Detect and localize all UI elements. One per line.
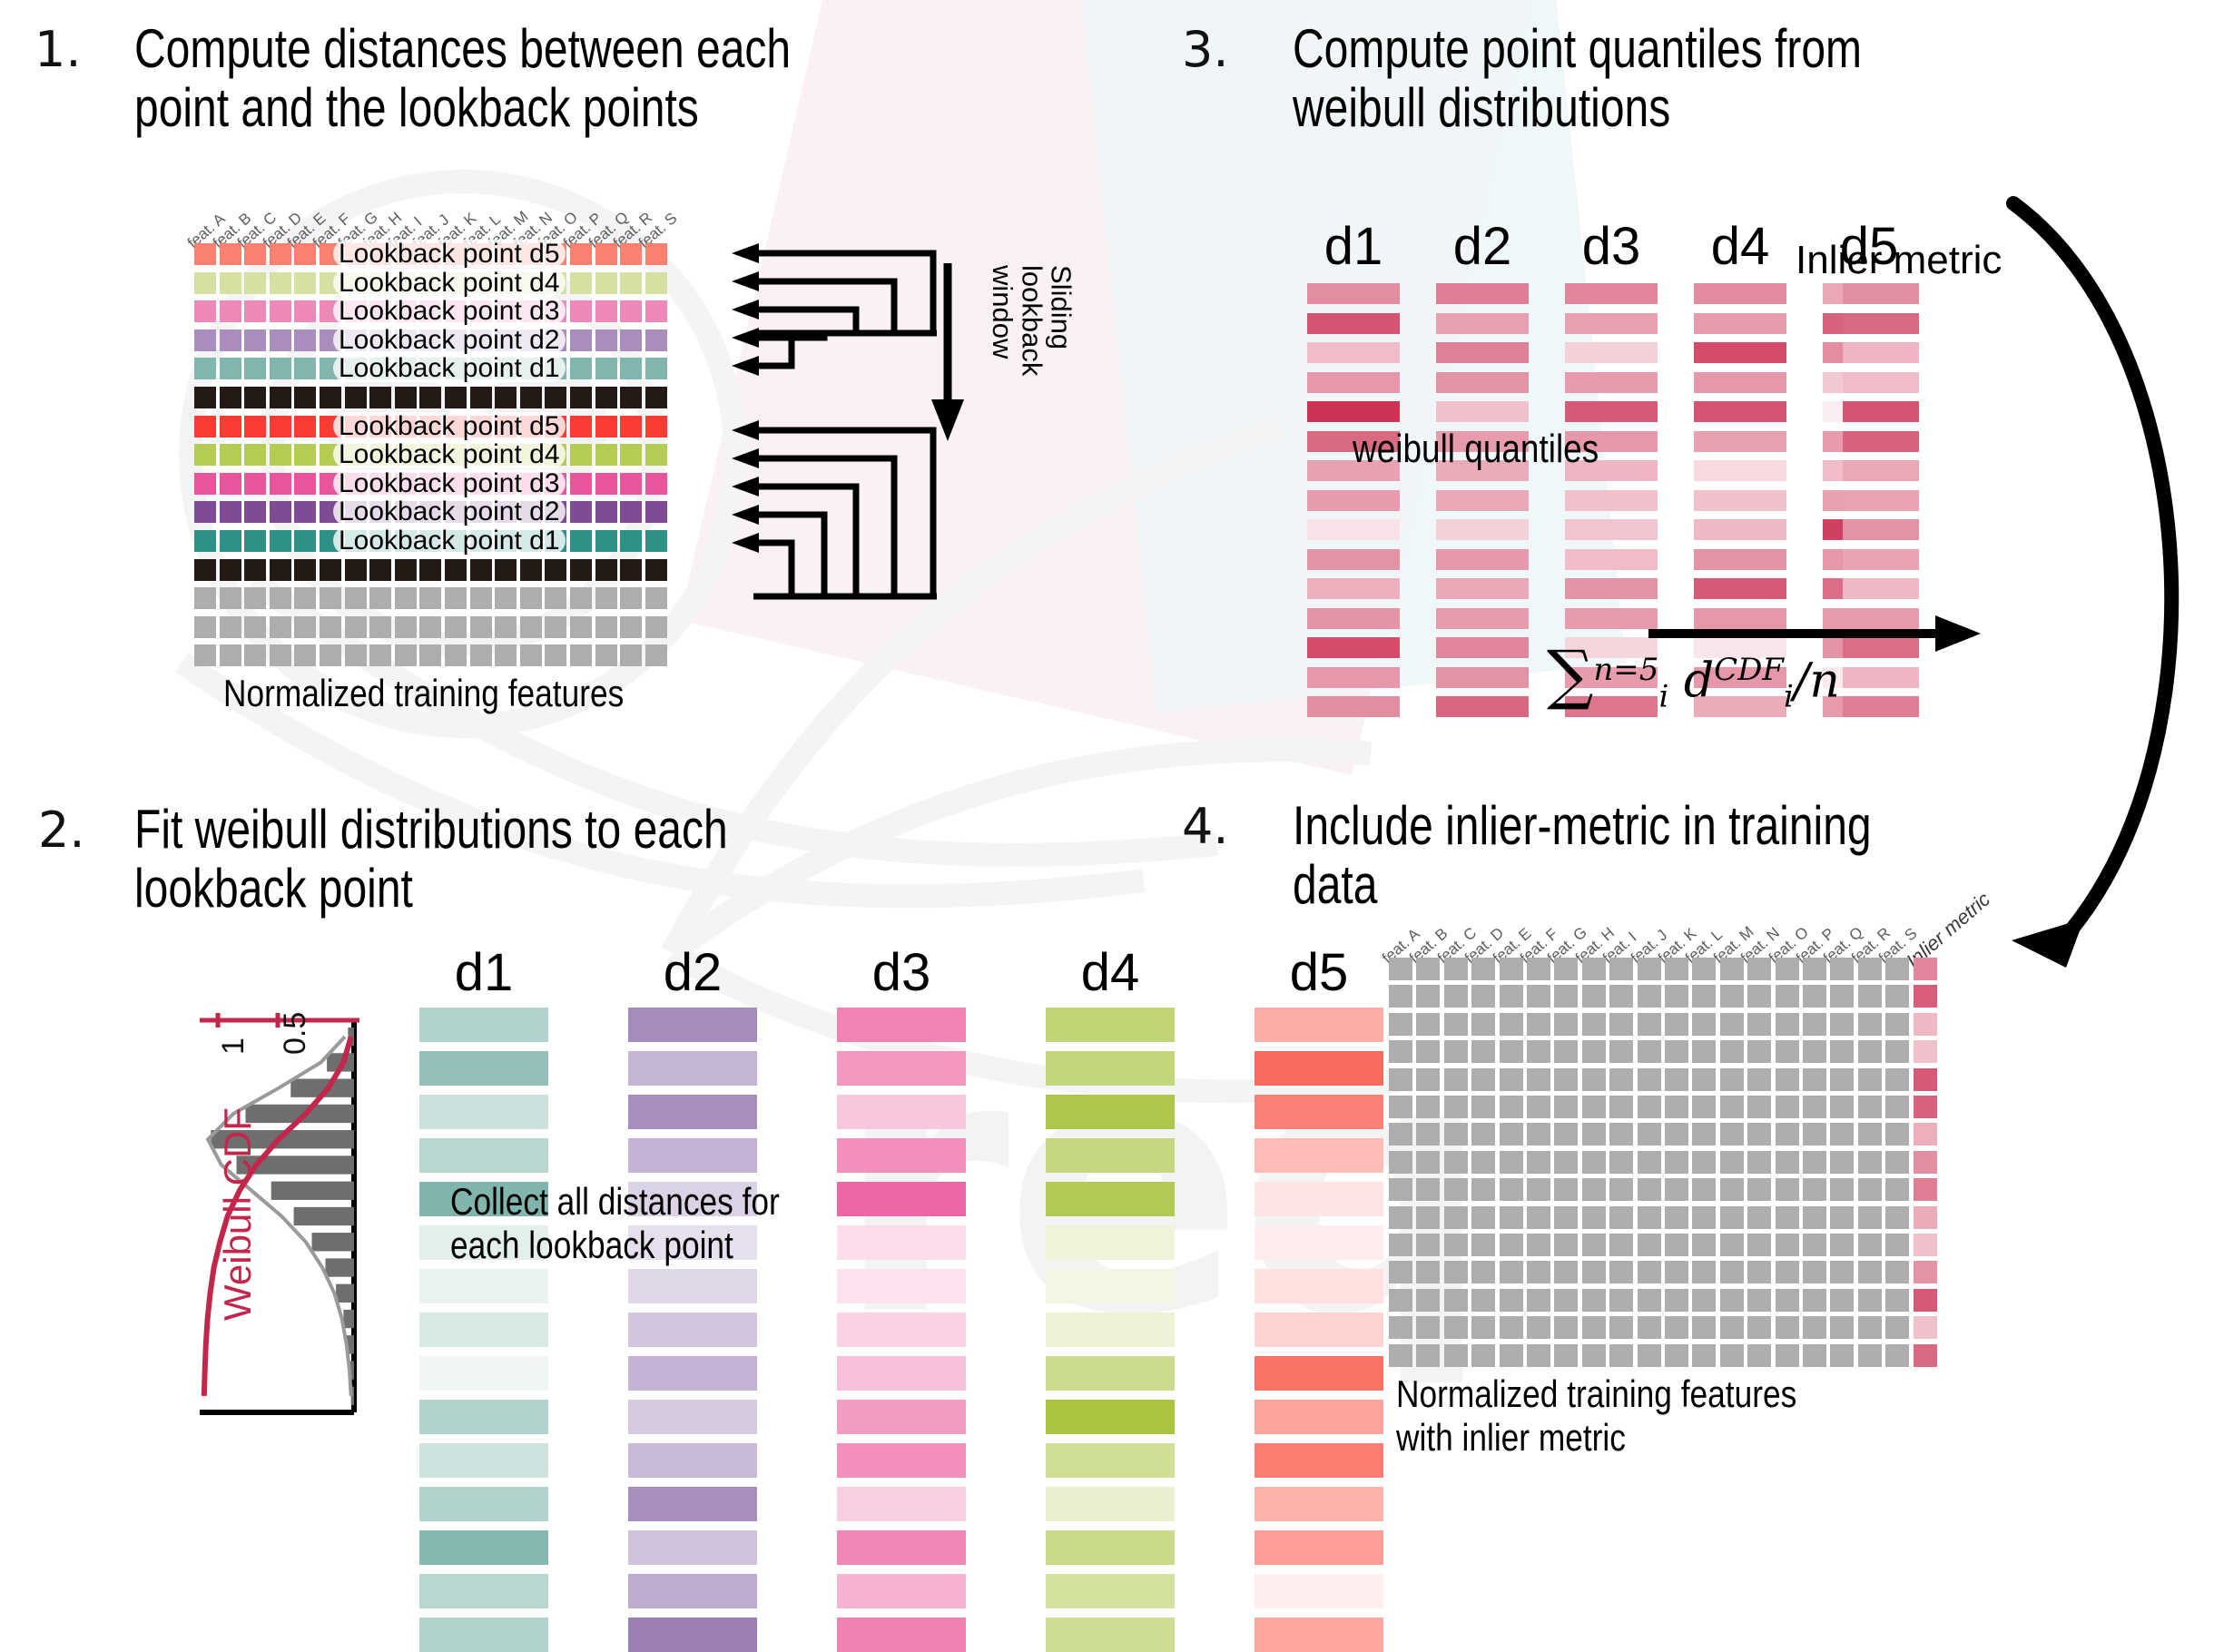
panel1-cell [220, 387, 241, 408]
panel4-feature-cell [1582, 1096, 1606, 1118]
panel3-quantile-cell [1436, 578, 1529, 599]
panel1-cell [445, 387, 467, 408]
panel1-cell [545, 587, 566, 609]
panel4-feature-cell [1885, 1151, 1909, 1174]
panel2-column-label-d2: d2 [628, 942, 757, 1003]
panel4-feature-cell [1830, 1316, 1854, 1339]
panel3-quantile-cell [1436, 283, 1529, 304]
panel1-cell [620, 358, 642, 379]
panel4-feature-cell [1471, 1151, 1495, 1174]
panel4-feature-cell [1858, 1096, 1882, 1118]
panel4-inlier-cell [1914, 1234, 1937, 1256]
panel3-column-label-d1: d1 [1307, 216, 1400, 277]
panel4-feature-cell [1692, 1316, 1716, 1339]
panel1-cell [570, 444, 592, 466]
panel1-cell [270, 473, 291, 495]
panel4-feature-cell [1389, 1289, 1412, 1312]
panel4-feature-cell [1444, 1013, 1468, 1036]
panel1-cell [244, 329, 266, 351]
panel4-feature-cell [1609, 1096, 1633, 1118]
panel4-feature-cell [1803, 1206, 1826, 1229]
panel1-cell [320, 387, 341, 408]
panel2-distance-cell [837, 1487, 966, 1521]
weibull-tick-05: 0.5 [278, 1012, 313, 1055]
panel4-feature-cell [1830, 1234, 1854, 1256]
panel3-quantile-cell [1436, 519, 1529, 540]
panel2-distance-cell [837, 1356, 966, 1391]
panel4-feature-cell [1858, 985, 1882, 1008]
panel4-feature-cell [1416, 958, 1440, 980]
panel4-feature-cell [1803, 1289, 1826, 1312]
panel1-cell [220, 644, 241, 666]
panel4-feature-cell [1389, 1151, 1412, 1174]
panel1-cell [345, 387, 367, 408]
panel4-caption: Normalized training features with inlier… [1396, 1372, 1991, 1460]
panel4-feature-cell [1638, 1206, 1661, 1229]
panel4-feature-cell [1858, 1178, 1882, 1201]
panel4-feature-cell [1665, 1151, 1688, 1174]
panel4-feature-cell [1720, 1344, 1744, 1367]
panel4-feature-cell [1665, 1206, 1688, 1229]
panel2-distance-cell [837, 1400, 966, 1434]
panel3-quantile-cell [1307, 490, 1400, 511]
panel3-quantile-cell [1694, 460, 1786, 481]
panel4-feature-cell [1638, 1178, 1661, 1201]
sliding-window-label: Sliding lookback window [988, 265, 1076, 428]
panel1-cell [294, 501, 316, 523]
panel2-distance-cell [837, 1443, 966, 1478]
panel1-cell [270, 416, 291, 438]
panel4-feature-cell [1389, 1013, 1412, 1036]
panel1-cell [620, 473, 642, 495]
panel1-cell [570, 387, 592, 408]
panel2-distance-cell [837, 1095, 966, 1129]
inlier-metric-formula: ∑n=5i dCDFi/n [1547, 652, 1840, 715]
panel4-feature-cell [1582, 1344, 1606, 1367]
panel1-cell [244, 387, 266, 408]
panel4-feature-cell [1582, 985, 1606, 1008]
panel4-feature-cell [1830, 1096, 1854, 1118]
panel1-cell [194, 329, 216, 351]
panel1-lookback-row-label: Lookback point d5 [333, 240, 566, 268]
panel4-feature-cell [1720, 1096, 1744, 1118]
panel4-feature-cell [1776, 1206, 1799, 1229]
panel4-feature-cell [1692, 1261, 1716, 1283]
panel1-cell [294, 416, 316, 438]
panel4-feature-cell [1527, 1344, 1550, 1367]
panel1-cell [220, 473, 241, 495]
panel1-cell [595, 559, 617, 581]
panel4-feature-cell [1692, 985, 1716, 1008]
panel1-cell [294, 329, 316, 351]
panel1-cell [369, 387, 391, 408]
panel4-feature-cell [1471, 1289, 1495, 1312]
panel1-cell [595, 416, 617, 438]
panel4-feature-cell [1554, 958, 1578, 980]
panel4-feature-cell [1444, 985, 1468, 1008]
panel1-cell [520, 644, 542, 666]
panel4-feature-cell [1665, 1234, 1688, 1256]
panel2-distance-cell [419, 1008, 548, 1042]
panel4-feature-cell [1582, 1040, 1606, 1063]
panel4-feature-cell [1500, 1096, 1523, 1118]
panel4-feature-cell [1720, 1040, 1744, 1063]
panel1-caption: Normalized training features [223, 672, 757, 715]
panel3-quantile-cell [1436, 490, 1529, 511]
panel1-cell [294, 587, 316, 609]
panel4-feature-cell [1500, 1289, 1523, 1312]
panel2-distance-cell [1255, 1269, 1383, 1303]
panel1-cell [194, 559, 216, 581]
panel1-cell [294, 616, 316, 638]
panel4-feature-cell [1527, 1234, 1550, 1256]
panel4-feature-cell [1554, 1289, 1578, 1312]
panel4-feature-cell [1444, 1316, 1468, 1339]
panel4-feature-cell [1638, 1096, 1661, 1118]
panel2-distance-cell [419, 1138, 548, 1173]
panel4-feature-cell [1582, 1206, 1606, 1229]
panel2-distance-cell [628, 1618, 757, 1652]
panel1-cell [270, 587, 291, 609]
panel4-feature-cell [1444, 1151, 1468, 1174]
panel1-cell [220, 587, 241, 609]
panel2-distance-cell [837, 1530, 966, 1565]
panel4-inlier-cell [1914, 1289, 1937, 1312]
panel1-cell [620, 616, 642, 638]
panel4-feature-cell [1527, 1206, 1550, 1229]
panel4-feature-cell [1803, 1261, 1826, 1283]
panel1-cell [270, 530, 291, 552]
summation-upper: n=5 [1593, 652, 1658, 688]
step-3-number: 3. [1182, 25, 1229, 74]
panel4-feature-cell [1747, 1123, 1771, 1146]
panel2-distance-cell [1255, 1313, 1383, 1347]
panel4-feature-cell [1830, 1068, 1854, 1091]
panel2-distance-cell [419, 1574, 548, 1608]
panel4-feature-cell [1830, 1151, 1854, 1174]
panel4-feature-cell [1665, 1123, 1688, 1146]
panel1-cell [244, 559, 266, 581]
panel2-distance-cell [628, 1051, 757, 1086]
panel4-feature-cell [1416, 1289, 1440, 1312]
panel4-feature-cell [1747, 1344, 1771, 1367]
panel1-cell [294, 300, 316, 322]
panel1-cell [570, 530, 592, 552]
panel4-feature-cell [1554, 1261, 1578, 1283]
panel4-inlier-cell [1914, 1178, 1937, 1201]
panel3-quantile-cell [1694, 372, 1786, 393]
panel3-quantile-cell [1565, 401, 1658, 422]
panel1-cell [520, 616, 542, 638]
panel4-feature-cell [1582, 958, 1606, 980]
panel4-feature-cell [1609, 1261, 1633, 1283]
panel1-cell [270, 387, 291, 408]
panel1-cell [194, 387, 216, 408]
panel1-cell [620, 272, 642, 294]
panel4-feature-cell [1858, 1013, 1882, 1036]
panel4-feature-cell [1444, 1344, 1468, 1367]
panel4-feature-cell [1554, 1234, 1578, 1256]
panel3-quantile-cell [1307, 608, 1400, 629]
weibull-cdf-plot [182, 1013, 381, 1420]
panel4-feature-cell [1609, 985, 1633, 1008]
panel4-feature-cell [1527, 1261, 1550, 1283]
panel4-feature-cell [1858, 1040, 1882, 1063]
panel1-cell [270, 272, 291, 294]
panel4-feature-cell [1720, 1013, 1744, 1036]
panel1-cell [294, 444, 316, 466]
panel1-cell [495, 387, 517, 408]
panel4-feature-cell [1416, 1123, 1440, 1146]
panel4-feature-cell [1776, 1261, 1799, 1283]
panel1-cell [369, 644, 391, 666]
panel1-cell [220, 616, 241, 638]
panel4-feature-cell [1582, 1289, 1606, 1312]
panel4-feature-cell [1776, 1344, 1799, 1367]
panel2-column-label-d3: d3 [837, 942, 966, 1003]
panel1-cell [320, 587, 341, 609]
panel1-lookback-arrows-bottom [726, 420, 1017, 783]
panel1-cell [244, 587, 266, 609]
panel1-cell [545, 387, 566, 408]
panel1-cell [595, 272, 617, 294]
panel1-cell [470, 644, 492, 666]
panel1-cell [495, 616, 517, 638]
panel1-cell [570, 272, 592, 294]
panel4-feature-cell [1858, 1344, 1882, 1367]
panel1-cell [244, 416, 266, 438]
panel1-cell [570, 501, 592, 523]
panel4-feature-cell [1747, 985, 1771, 1008]
panel1-cell [620, 559, 642, 581]
panel2-distance-cell [1046, 1269, 1175, 1303]
panel3-column-label-d4: d4 [1694, 216, 1786, 277]
panel4-feature-cell [1720, 1178, 1744, 1201]
panel2-distance-cell [1255, 1618, 1383, 1652]
panel4-feature-cell [1527, 1013, 1550, 1036]
panel4-feature-cell [1692, 1123, 1716, 1146]
panel1-cell [620, 329, 642, 351]
panel4-feature-cell [1500, 1040, 1523, 1063]
panel1-cell [395, 644, 417, 666]
panel1-cell [294, 387, 316, 408]
panel1-cell [595, 243, 617, 265]
panel4-feature-cell [1692, 1096, 1716, 1118]
panel1-cell [244, 530, 266, 552]
panel3-quantile-cell [1307, 283, 1400, 304]
panel2-distance-cell [1255, 1182, 1383, 1216]
panel1-row [194, 587, 670, 609]
panel4-feature-cell [1830, 1261, 1854, 1283]
panel2-distance-cell [1046, 1225, 1175, 1260]
panel1-cell [244, 644, 266, 666]
panel4-feature-cell [1471, 985, 1495, 1008]
panel1-cell [520, 559, 542, 581]
panel4-feature-cell [1389, 1261, 1412, 1283]
panel2-distance-cell [628, 1313, 757, 1347]
panel1-cell [345, 587, 367, 609]
panel4-feature-cell [1858, 1206, 1882, 1229]
panel4-feature-cell [1776, 1123, 1799, 1146]
panel4-feature-cell [1803, 985, 1826, 1008]
panel4-feature-cell [1416, 1178, 1440, 1201]
panel4-feature-cell [1803, 1151, 1826, 1174]
panel1-cell [220, 444, 241, 466]
panel1-cell [395, 387, 417, 408]
panel4-feature-cell [1747, 1068, 1771, 1091]
panel1-cell [570, 300, 592, 322]
panel1-cell [270, 644, 291, 666]
panel4-feature-cell [1389, 1040, 1412, 1063]
panel4-feature-cell [1444, 1096, 1468, 1118]
panel4-feature-cell [1720, 1316, 1744, 1339]
panel1-cell [470, 616, 492, 638]
panel4-feature-cell [1416, 1068, 1440, 1091]
panel2-distance-cell [1046, 1313, 1175, 1347]
panel1-cell [620, 501, 642, 523]
panel4-feature-cell [1720, 985, 1744, 1008]
panel4-feature-cell [1747, 958, 1771, 980]
panel1-cell [220, 358, 241, 379]
formula-body: d [1684, 654, 1714, 708]
panel1-cell [395, 559, 417, 581]
panel4-feature-cell [1720, 1151, 1744, 1174]
panel1-cell [244, 501, 266, 523]
panel1-lookback-row-label: Lookback point d2 [333, 497, 566, 526]
panel1-cell [495, 559, 517, 581]
panel4-feature-cell [1638, 1261, 1661, 1283]
panel4-feature-cell [1527, 1316, 1550, 1339]
panel2-overlay-caption: Collect all distances for each lookback … [450, 1180, 877, 1268]
panel2-distance-cell [628, 1138, 757, 1173]
panel1-cell [270, 358, 291, 379]
panel4-inlier-cell [1914, 1261, 1937, 1283]
panel4-feature-cell [1858, 1316, 1882, 1339]
panel3-quantile-cell [1436, 372, 1529, 393]
panel2-distance-cell [419, 1051, 548, 1086]
panel4-feature-cell [1500, 1344, 1523, 1367]
panel3-quantile-cell [1307, 313, 1400, 334]
panel4-feature-cell [1582, 1261, 1606, 1283]
panel4-feature-cell [1776, 985, 1799, 1008]
step-2-title: Fit weibull distributions to each lookba… [134, 801, 846, 919]
panel3-quantile-cell [1565, 342, 1658, 363]
panel4-feature-cell [1747, 1234, 1771, 1256]
panel2-distance-cell [1046, 1095, 1175, 1129]
panel3-quantile-cell [1436, 401, 1529, 422]
panel1-cell [645, 387, 667, 408]
panel4-feature-cell [1416, 1316, 1440, 1339]
weibull-tick-1: 1 [216, 1037, 251, 1055]
panel4-feature-cell [1720, 958, 1744, 980]
figure-canvas: req 1. Compute distances between each po… [0, 0, 2214, 1539]
panel1-row [194, 616, 670, 638]
panel1-cell [294, 530, 316, 552]
panel4-feature-cell [1444, 1234, 1468, 1256]
formula-body-sup: CDF [1714, 652, 1784, 688]
panel2-distance-cell [1255, 1400, 1383, 1434]
panel1-cell [645, 559, 667, 581]
panel4-feature-cell [1500, 1316, 1523, 1339]
panel4-feature-cell [1527, 1151, 1550, 1174]
panel1-cell [294, 644, 316, 666]
panel4-feature-cell [1858, 1261, 1882, 1283]
panel1-cell [270, 300, 291, 322]
panel3-column-label-d3: d3 [1565, 216, 1658, 277]
panel1-cell [595, 387, 617, 408]
panel2-distance-cell [837, 1313, 966, 1347]
panel4-feature-cell [1582, 1068, 1606, 1091]
panel3-quantile-cell [1565, 313, 1658, 334]
panel1-cell [345, 644, 367, 666]
panel1-cell [620, 300, 642, 322]
panel1-cell [645, 358, 667, 379]
panel1-cell [419, 616, 441, 638]
panel4-feature-cell [1776, 1013, 1799, 1036]
panel4-feature-cell [1609, 1289, 1633, 1312]
panel4-feature-cell [1609, 1123, 1633, 1146]
panel4-feature-cell [1803, 1344, 1826, 1367]
panel4-feature-cell [1776, 1040, 1799, 1063]
panel3-quantile-cell [1694, 490, 1786, 511]
panel1-cell [470, 387, 492, 408]
panel4-feature-cell [1444, 1123, 1468, 1146]
panel4-feature-cell [1720, 1289, 1744, 1312]
panel4-feature-cell [1692, 958, 1716, 980]
step-1-title: Compute distances between each point and… [134, 20, 846, 138]
panel4-feature-cell [1527, 1068, 1550, 1091]
panel4-feature-cell [1638, 985, 1661, 1008]
panel4-feature-cell [1803, 1096, 1826, 1118]
panel4-feature-cell [1830, 985, 1854, 1008]
panel1-cell [194, 501, 216, 523]
panel4-feature-cell [1803, 1068, 1826, 1091]
panel4-feature-cell [1803, 958, 1826, 980]
panel4-feature-cell [1554, 1096, 1578, 1118]
panel4-feature-cell [1554, 1123, 1578, 1146]
panel1-cell [244, 616, 266, 638]
panel4-feature-cell [1885, 1234, 1909, 1256]
panel4-feature-cell [1665, 1013, 1688, 1036]
panel3-quantile-cell [1307, 696, 1400, 717]
panel4-feature-cell [1885, 1068, 1909, 1091]
panel3-quantile-cell [1436, 637, 1529, 658]
panel1-cell [595, 644, 617, 666]
panel4-feature-cell [1554, 1344, 1578, 1367]
panel4-feature-cell [1692, 1040, 1716, 1063]
summation-sign: ∑ [1547, 635, 1593, 712]
panel4-feature-cell [1747, 1151, 1771, 1174]
panel1-cell [645, 616, 667, 638]
panel2-distance-cell [837, 1269, 966, 1303]
panel2-distance-cell [419, 1313, 548, 1347]
panel1-cell [194, 416, 216, 438]
panel1-cell [244, 300, 266, 322]
panel4-feature-cell [1471, 958, 1495, 980]
panel4-feature-cell [1416, 1013, 1440, 1036]
panel1-cell [194, 644, 216, 666]
panel1-cell [345, 616, 367, 638]
panel4-feature-cell [1776, 1178, 1799, 1201]
panel2-distance-cell [628, 1269, 757, 1303]
panel4-feature-cell [1830, 1344, 1854, 1367]
panel1-cell [419, 387, 441, 408]
panel3-quantile-cell [1436, 313, 1529, 334]
panel1-cell [294, 473, 316, 495]
panel4-feature-cell [1389, 1234, 1412, 1256]
panel4-feature-cell [1885, 1206, 1909, 1229]
panel2-distance-cell [1046, 1138, 1175, 1173]
